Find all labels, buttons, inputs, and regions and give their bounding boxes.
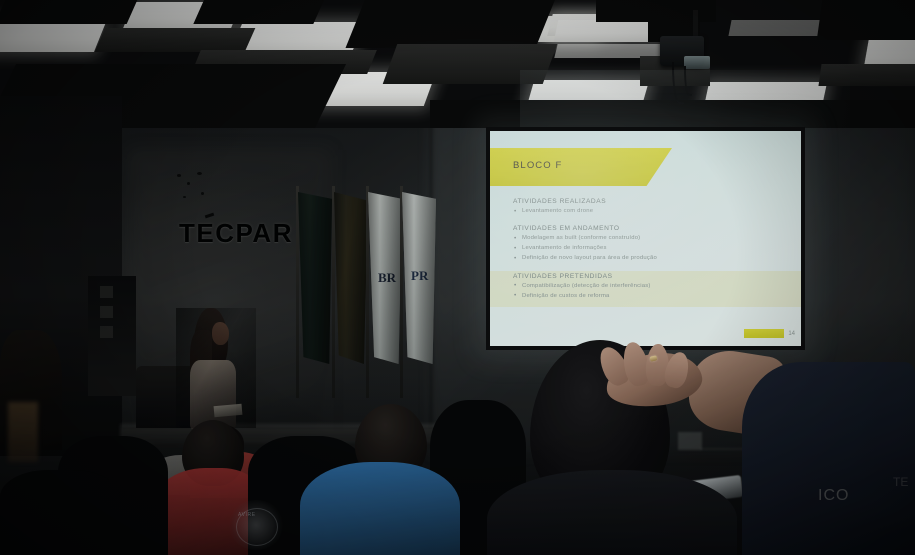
- slide-page-indicator: 14: [744, 329, 795, 338]
- slide: BLOCO F ATIVIDADES REALIZADAS Levantamen…: [490, 131, 801, 346]
- list-item: Levantamento de informações: [513, 245, 783, 252]
- projector-cable: [684, 66, 692, 96]
- page-indicator-bar: [744, 329, 784, 338]
- door-notice: [100, 286, 113, 298]
- projection-screen: BLOCO F ATIVIDADES REALIZADAS Levantamen…: [486, 127, 805, 350]
- shirt-text: ICO: [818, 487, 849, 505]
- ceiling-grid: [0, 0, 915, 128]
- ceiling-beam: [95, 28, 256, 52]
- presenter-shadow: [176, 308, 256, 428]
- flag-cloth: PR: [402, 192, 436, 364]
- slide-body: ATIVIDADES REALIZADAS Levantamento com d…: [513, 198, 783, 310]
- slide-title: BLOCO F: [513, 160, 562, 171]
- ceiling-beam: [193, 0, 326, 24]
- list-item: Definição de custos de reforma: [513, 293, 783, 300]
- auditorium-presentation-photo: TECPAR BR PR: [0, 0, 915, 555]
- section-heading-realizadas: ATIVIDADES REALIZADAS: [513, 198, 783, 205]
- foreground-person-shoulder: [487, 470, 737, 555]
- flag-group: BR PR: [296, 186, 436, 401]
- door-notice: [100, 306, 113, 318]
- ceiling-beam: [0, 0, 137, 24]
- wall-texture-specks: [175, 170, 210, 210]
- flag-pole: [400, 186, 403, 398]
- list-item: Levantamento com drone: [513, 208, 783, 215]
- presenter: [176, 308, 256, 428]
- flag-pole: [332, 186, 335, 398]
- audience-member-blue-shirt: [300, 462, 460, 555]
- flag-pole: [296, 186, 299, 398]
- slide-page-number: 14: [788, 331, 795, 337]
- flag-pole: [366, 186, 369, 398]
- list-item: Definição de novo layout para área de pr…: [513, 255, 783, 262]
- list-item: Compatibilização (detecção de interferên…: [513, 283, 783, 290]
- ceiling-beam: [345, 0, 556, 48]
- tecpar-wall-logo: TECPAR: [179, 218, 287, 249]
- ceiling-beam: [817, 0, 915, 40]
- flag-cloth: [334, 192, 368, 364]
- foreground-hand: [586, 340, 731, 412]
- ceiling-light-panel: [0, 22, 106, 52]
- foreground-person-sleeve: [742, 362, 915, 555]
- audience-member: [8, 402, 38, 462]
- ceiling-beam: [383, 44, 558, 84]
- list-item: Modelagem as built (conforme construído): [513, 235, 783, 242]
- flag-cloth: BR: [368, 192, 402, 364]
- cap-logo-text: AVIRE: [238, 512, 256, 518]
- section-heading-andamento: ATIVIDADES EM ANDAMENTO: [513, 225, 783, 232]
- bullet-list-realizadas: Levantamento com drone: [513, 208, 783, 215]
- door-notice: [100, 326, 113, 338]
- bullet-list-andamento: Modelagem as built (conforme construído)…: [513, 235, 783, 262]
- section-heading-pretendidas: ATIVIDADES PRETENDIDAS: [513, 273, 783, 280]
- ceiling-beam: [430, 100, 915, 128]
- ceiling-beam: [818, 64, 915, 86]
- wall-outlet-box: [678, 432, 702, 450]
- audience-silhouette: [0, 470, 120, 555]
- flag-cloth: [298, 192, 332, 364]
- shirt-text-secondary: TE: [893, 475, 908, 489]
- bullet-list-pretendidas: Compatibilização (detecção de interferên…: [513, 283, 783, 300]
